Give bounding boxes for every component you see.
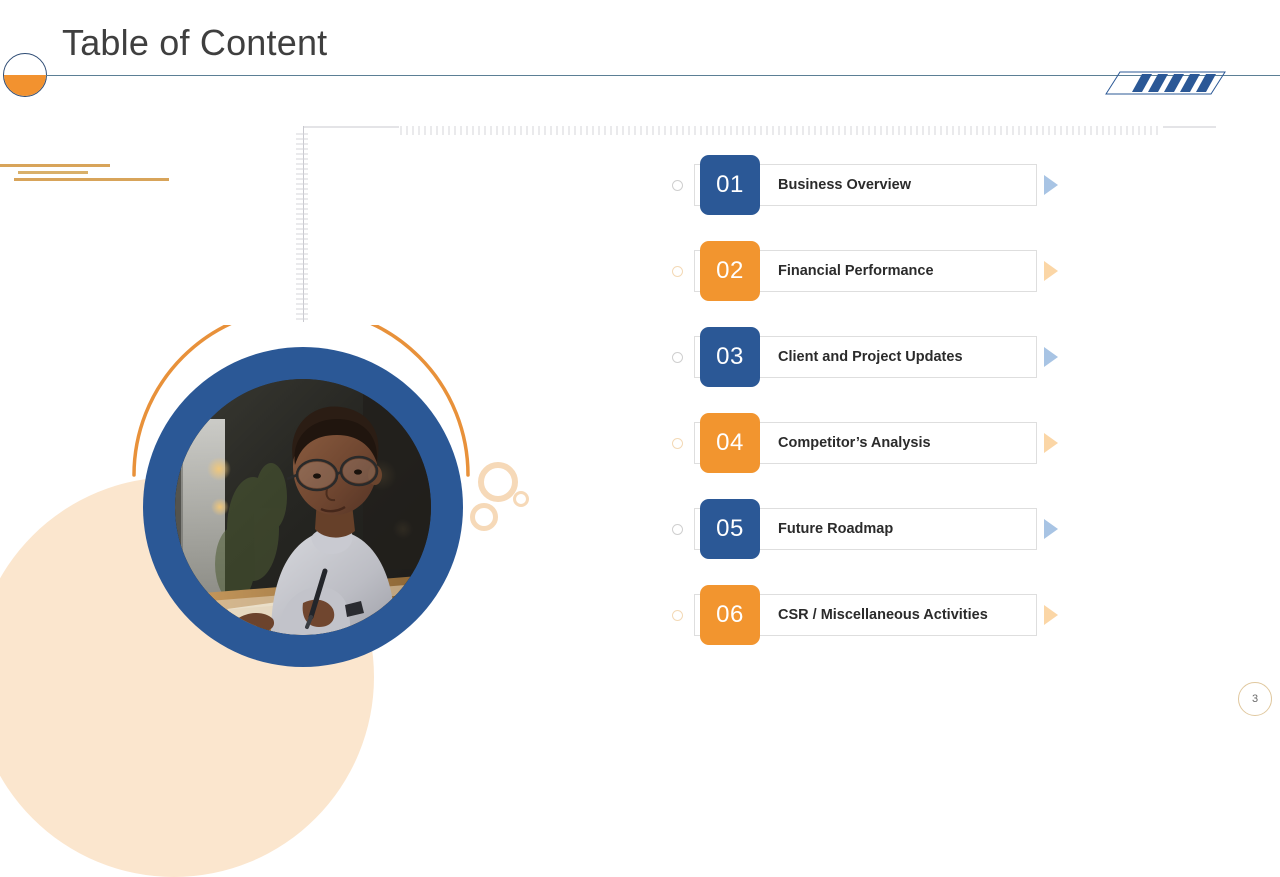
chevron-right-icon[interactable] (1044, 175, 1058, 195)
toc-item-04[interactable]: 04 Competitor’s Analysis (672, 413, 1072, 499)
half-fill (4, 75, 46, 96)
bullet-icon (672, 438, 683, 449)
page-title: Table of Content (62, 22, 327, 64)
decorative-circle-1 (478, 462, 518, 502)
toc-item-number: 06 (700, 585, 760, 645)
chevron-right-icon[interactable] (1044, 519, 1058, 539)
toc-item-number: 04 (700, 413, 760, 473)
decorative-circle-3 (513, 491, 529, 507)
toc-item-number: 05 (700, 499, 760, 559)
chevron-right-icon[interactable] (1044, 261, 1058, 281)
toc-item-number: 01 (700, 155, 760, 215)
toc-item-01[interactable]: 01 Business Overview (672, 155, 1072, 241)
chevron-right-icon[interactable] (1044, 433, 1058, 453)
toc-item-02[interactable]: 02 Financial Performance (672, 241, 1072, 327)
bullet-icon (672, 524, 683, 535)
toc-item-05[interactable]: 05 Future Roadmap (672, 499, 1072, 585)
page-number-text: 3 (1252, 693, 1258, 705)
toc-item-number: 02 (700, 241, 760, 301)
toc-item-label: Client and Project Updates (778, 336, 963, 378)
toc-item-label: CSR / Miscellaneous Activities (778, 594, 988, 636)
bullet-icon (672, 180, 683, 191)
half-filled-circle-icon (3, 53, 47, 97)
chevron-right-icon[interactable] (1044, 347, 1058, 367)
striped-parallelogram-icon (1098, 70, 1226, 96)
toc-item-label: Financial Performance (778, 250, 934, 292)
bullet-icon (672, 610, 683, 621)
accent-line-1 (0, 164, 110, 167)
page-number-badge: 3 (1238, 682, 1272, 716)
table-of-contents-list: 01 Business Overview 02 Financial Perfor… (672, 155, 1072, 671)
woman-writing-at-desk-photo (175, 379, 431, 635)
toc-item-label: Competitor’s Analysis (778, 422, 931, 464)
ruler-tick-horizontal-icon (303, 125, 1216, 137)
accent-line-2 (18, 171, 88, 174)
chevron-right-icon[interactable] (1044, 605, 1058, 625)
toc-item-03[interactable]: 03 Client and Project Updates (672, 327, 1072, 413)
toc-item-06[interactable]: 06 CSR / Miscellaneous Activities (672, 585, 1072, 671)
toc-item-number: 03 (700, 327, 760, 387)
ruler-tick-vertical-icon (296, 130, 310, 322)
title-divider (46, 75, 1280, 76)
decorative-circle-2 (470, 503, 498, 531)
bullet-icon (672, 352, 683, 363)
toc-item-label: Business Overview (778, 164, 911, 206)
accent-line-3 (14, 178, 169, 181)
toc-item-label: Future Roadmap (778, 508, 893, 550)
bullet-icon (672, 266, 683, 277)
